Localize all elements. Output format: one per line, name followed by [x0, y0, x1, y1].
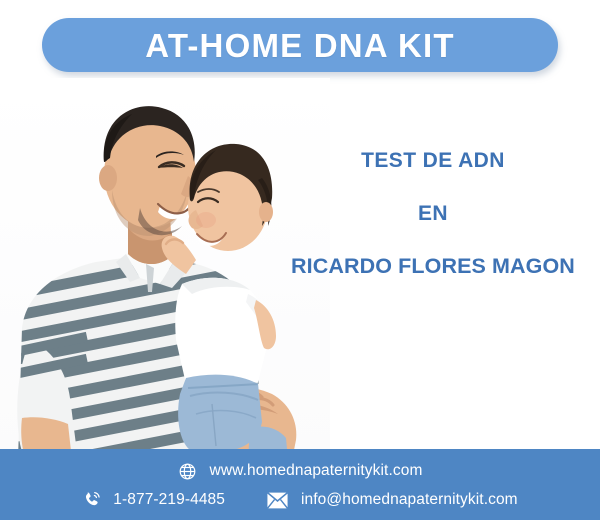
headline-line-en: EN	[272, 203, 594, 224]
headline-line-location: RICARDO FLORES MAGON	[272, 256, 594, 278]
contact-footer: www.homednapaternitykit.com 1-877-219-44…	[0, 449, 600, 520]
email-text[interactable]: info@homednapaternitykit.com	[301, 492, 518, 508]
footer-website-row: www.homednapaternitykit.com	[0, 458, 600, 484]
phone-text[interactable]: 1-877-219-4485	[113, 492, 225, 508]
phone-icon	[82, 490, 102, 510]
poster-canvas: AT-HOME DNA KIT	[0, 0, 600, 520]
website-text[interactable]: www.homednapaternitykit.com	[210, 463, 423, 479]
envelope-icon	[267, 492, 288, 509]
globe-icon	[178, 462, 197, 481]
footer-contact-row: 1-877-219-4485 info@homednapaternitykit.…	[0, 487, 600, 513]
headline-block: TEST DE ADN EN RICARDO FLORES MAGON	[272, 150, 594, 278]
banner-pill: AT-HOME DNA KIT	[42, 18, 558, 72]
banner-title: AT-HOME DNA KIT	[145, 29, 454, 62]
headline-line-test-de-adn: TEST DE ADN	[272, 150, 594, 171]
